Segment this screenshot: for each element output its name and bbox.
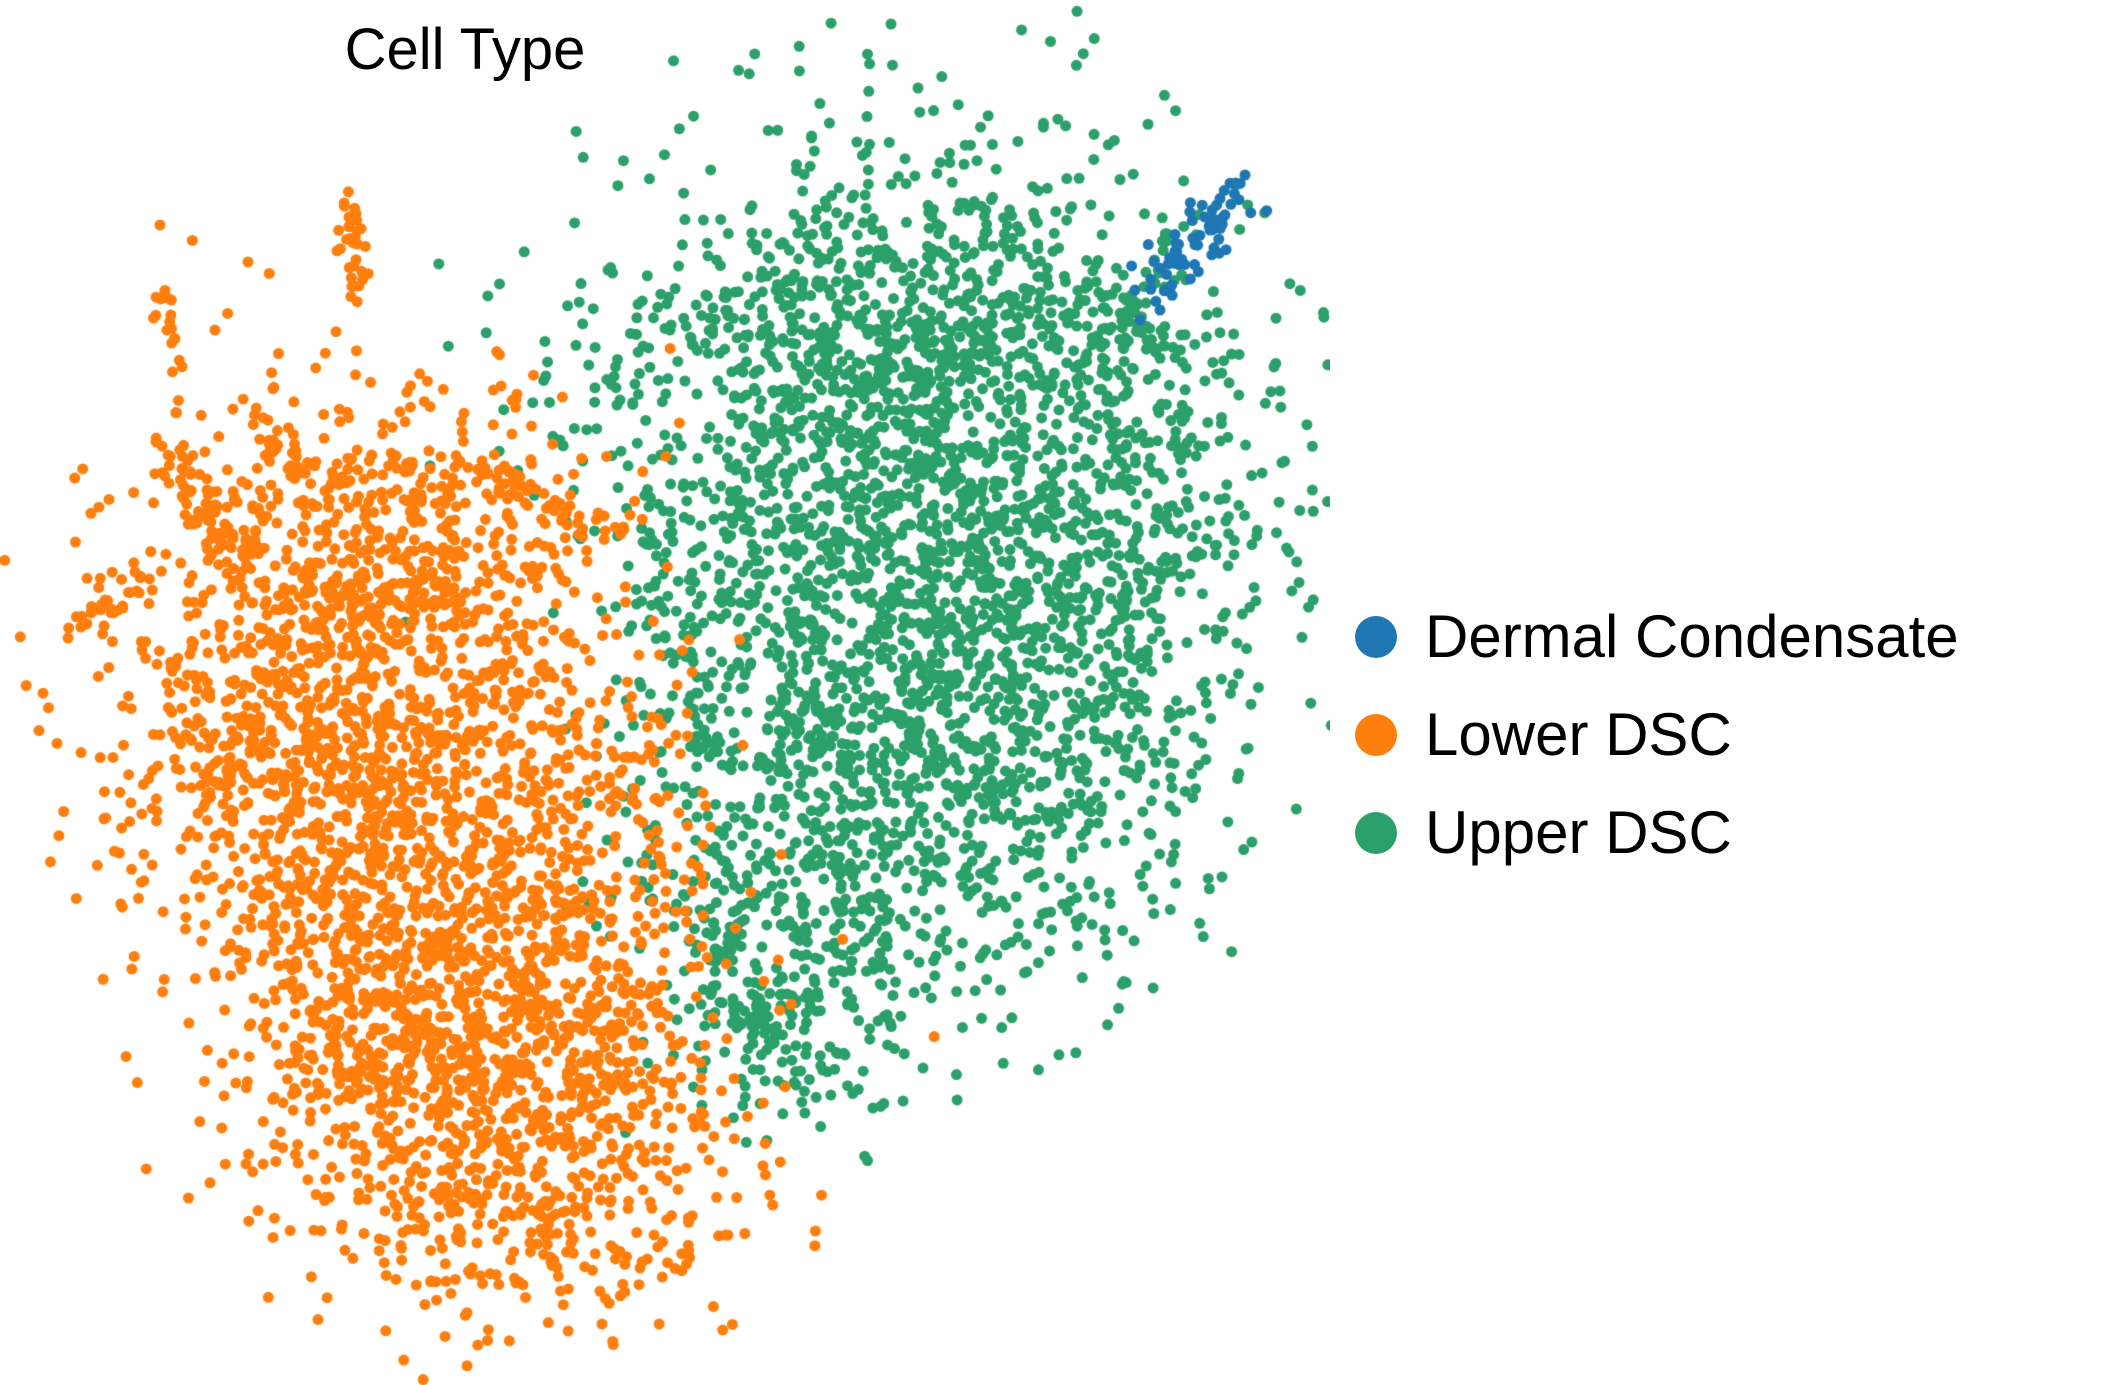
scatter-plot	[0, 0, 1330, 1385]
legend-item[interactable]: Dermal Condensate	[1355, 588, 2095, 686]
circle-marker-icon	[1355, 616, 1397, 658]
circle-marker-icon	[1355, 714, 1397, 756]
legend: Dermal CondensateLower DSCUpper DSC	[1355, 588, 2095, 882]
legend-item-label: Lower DSC	[1425, 705, 1732, 765]
legend-item[interactable]: Lower DSC	[1355, 686, 2095, 784]
legend-item-label: Dermal Condensate	[1425, 607, 1959, 667]
figure-canvas: Cell Type Dermal CondensateLower DSCUppe…	[0, 0, 2121, 1385]
legend-item[interactable]: Upper DSC	[1355, 784, 2095, 882]
legend-item-label: Upper DSC	[1425, 803, 1732, 863]
circle-marker-icon	[1355, 812, 1397, 854]
